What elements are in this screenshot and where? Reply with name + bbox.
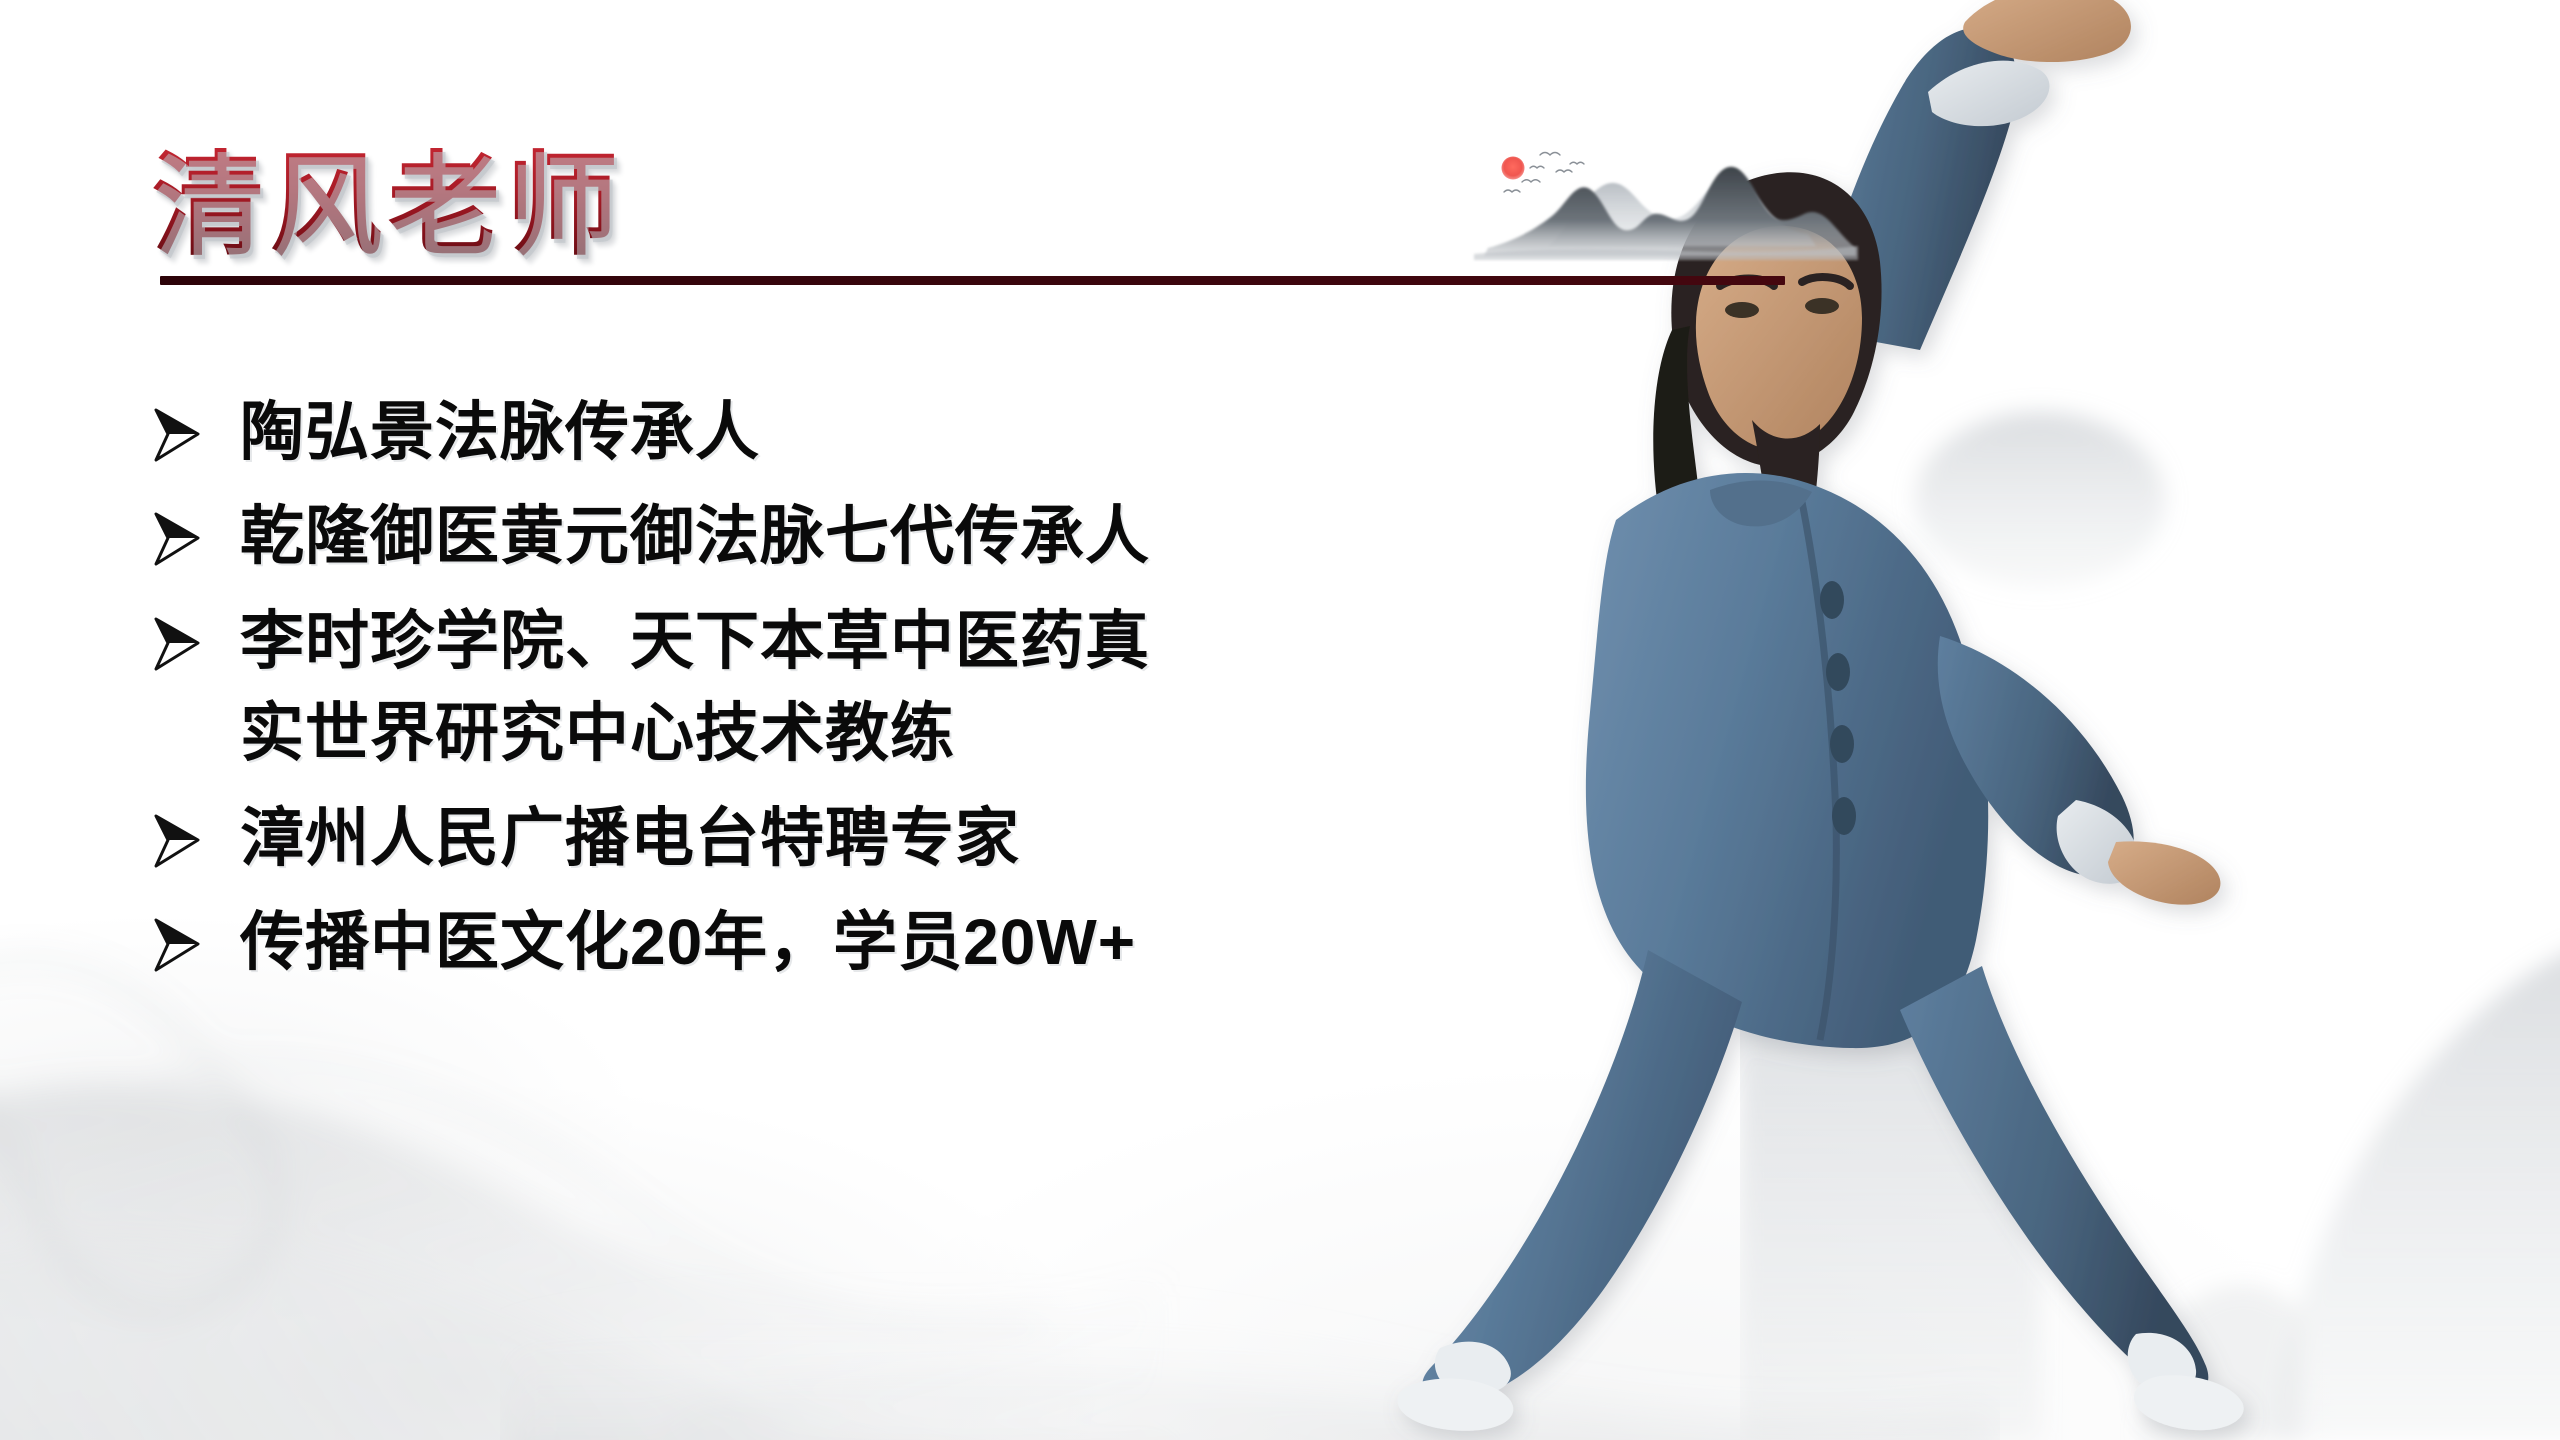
- list-item-label: 漳州人民广播电台特聘专家: [240, 796, 1550, 880]
- arrow-bullet-icon: [150, 494, 220, 573]
- list-item: 乾隆御医黄元御法脉七代传承人: [150, 494, 1550, 578]
- list-item-label: 陶弘景法脉传承人: [240, 390, 1550, 474]
- ink-wash-mountain-decoration: [1460, 120, 1860, 280]
- list-item: 传播中医文化20年，学员20W+: [150, 900, 1550, 984]
- list-item-label: 传播中医文化20年，学员20W+: [240, 900, 1550, 984]
- red-sun-icon: [1502, 157, 1525, 180]
- slide-header: 清风老师: [0, 0, 2560, 300]
- list-item-label: 李时珍学院、天下本草中医药真: [240, 599, 1550, 683]
- list-item-body: 陶弘景法脉传承人: [220, 390, 1550, 474]
- list-item: 漳州人民广播电台特聘专家: [150, 796, 1550, 880]
- list-item-label-continued: 实世界研究中心技术教练: [240, 691, 1550, 775]
- list-item-body: 传播中医文化20年，学员20W+: [220, 900, 1550, 984]
- list-item-label: 乾隆御医黄元御法脉七代传承人: [240, 494, 1550, 578]
- list-item-body: 乾隆御医黄元御法脉七代传承人: [220, 494, 1550, 578]
- list-item-body: 李时珍学院、天下本草中医药真 实世界研究中心技术教练: [220, 599, 1550, 776]
- arrow-bullet-icon: [150, 900, 220, 979]
- list-item: 李时珍学院、天下本草中医药真 实世界研究中心技术教练: [150, 599, 1550, 776]
- list-item: 陶弘景法脉传承人: [150, 390, 1550, 474]
- ink-wash-mist-bottom: [500, 1040, 2000, 1440]
- ink-wash-trees-right: [1740, 380, 2560, 1440]
- arrow-bullet-icon: [150, 599, 220, 678]
- slide-canvas: 清风老师: [0, 0, 2560, 1440]
- arrow-bullet-icon: [150, 796, 220, 875]
- list-item-body: 漳州人民广播电台特聘专家: [220, 796, 1550, 880]
- page-title: 清风老师: [152, 147, 624, 265]
- credentials-list: 陶弘景法脉传承人 乾隆御医黄元御法脉七代传承人: [150, 390, 1550, 1005]
- arrow-bullet-icon: [150, 390, 220, 469]
